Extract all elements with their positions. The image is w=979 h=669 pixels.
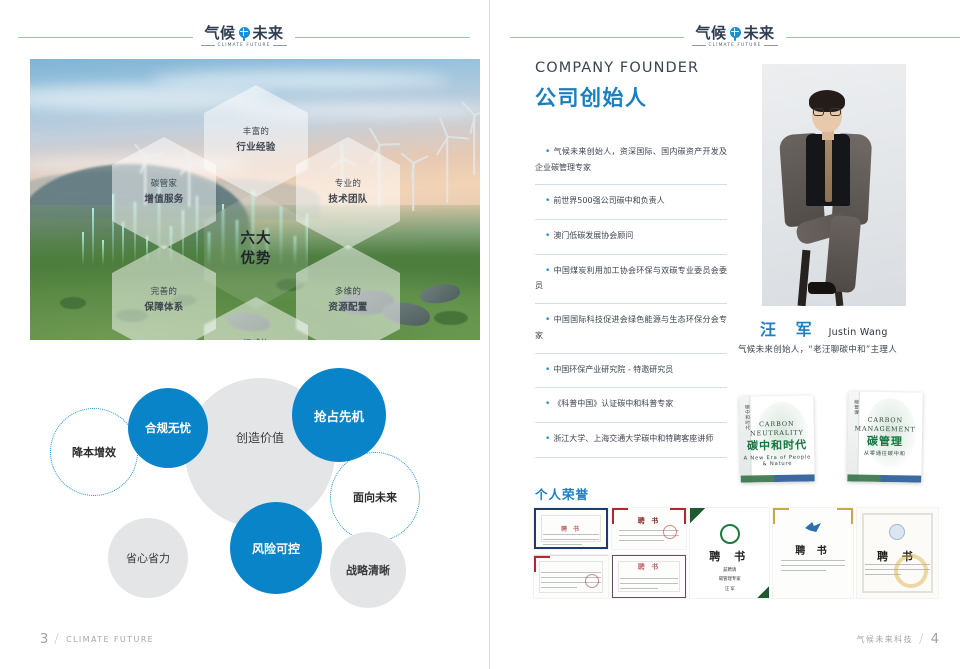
founder-name-en: Justin Wang: [829, 327, 888, 338]
brochure-spread: 气候 未来 CLIMATE FUTURE: [0, 0, 979, 669]
credential-text: 浙江大学、上海交通大学碳中和特聘客座讲师: [535, 431, 727, 448]
book-carbon-neutrality: 碳中和时代 CARBON NEUTRALITY 碳中和时代 A New Era …: [739, 395, 814, 482]
wind-turbine-7: [462, 115, 480, 175]
credential-text: 前世界500强公司碳中和负责人: [535, 193, 727, 210]
wind-turbine-5: [434, 137, 460, 203]
page-left: 气候 未来 CLIMATE FUTURE: [0, 0, 489, 669]
bubble-worry-free-label: 省心省力: [126, 550, 170, 566]
book-2-title-en: CARBON MANAGEMENT: [848, 415, 922, 434]
hex-5-line2: 保障体系: [144, 301, 183, 316]
credential-text: 中国环保产业研究院 - 特邀研究员: [535, 362, 727, 379]
brand-logo-en: CLIMATE FUTURE: [201, 43, 288, 48]
bubble-future-oriented-label: 面向未来: [353, 489, 397, 505]
footer-slash-right: /: [919, 632, 925, 647]
book-carbon-management: 碳管理 CARBON MANAGEMENT 碳管理 从零通往碳中和: [847, 391, 923, 482]
brand-logo-cn: 气候 未来: [204, 26, 283, 41]
founder-name: 汪 军 Justin Wang: [760, 316, 888, 340]
hex-6-line2: 增值服务: [144, 193, 183, 208]
footer-right: 气候未来科技 / 4: [857, 632, 939, 647]
certificate-5-body: 兹聘请碳管理专家汪 军: [690, 566, 769, 594]
certificates-gallery: 聘 书 聘 书 聘 书: [534, 508, 938, 598]
certificate-1-heading: 聘 书: [536, 524, 606, 533]
portrait-tie: [825, 136, 832, 202]
header-rule-left: [18, 37, 193, 38]
book-1-title-cn-text: 碳中和时代: [747, 438, 807, 452]
list-item: 气候未来创始人，资深国际、国内碳资产开发及企业碳管理专家: [535, 136, 727, 185]
page-title-cn: 公司创始人: [535, 82, 648, 112]
founder-subtitle: 气候未来创始人，“老汪聊碳中和”主理人: [738, 343, 897, 355]
certificate-7: 聘 书: [857, 508, 938, 598]
header-rule-right-2: [786, 37, 960, 38]
founder-credentials-list: 气候未来创始人，资深国际、国内碳资产开发及企业碳管理专家 前世界500强公司碳中…: [535, 136, 727, 458]
hex-4-line1: 权威的: [243, 338, 269, 340]
certificate-6-heading: 聘 书: [773, 542, 852, 557]
certificate-1: 聘 书: [534, 508, 608, 549]
logo-text-left: 气候: [204, 26, 235, 41]
list-item: 中国煤炭利用加工协会环保与双碳专业委员会委员: [535, 255, 727, 304]
founder-name-cn: 汪 军: [760, 316, 819, 340]
hex-1-line2: 行业经验: [236, 141, 275, 156]
founder-portrait-photo: [762, 64, 906, 306]
portrait-stool-leg-1: [798, 250, 811, 306]
hex-center-line2: 优势: [241, 250, 272, 270]
published-books: 碳中和时代 CARBON NEUTRALITY 碳中和时代 A New Era …: [736, 386, 936, 486]
certificate-3: 聘 书: [612, 508, 686, 549]
bubble-worry-free: 省心省力: [108, 518, 188, 598]
hero-image-six-advantages: 六大 优势 丰富的 行业经验 专业的 技术团队 多维的 资源配置 权威的 生态伙…: [30, 59, 480, 340]
header-logo-band-right: 气候 未来 CLIMATE FUTURE: [510, 26, 960, 48]
book-1-subtitle: A New Era of People & Nature: [740, 455, 814, 468]
header-rule-right: [295, 37, 470, 38]
certificate-2: [534, 555, 608, 598]
logo-en-text: CLIMATE FUTURE: [218, 43, 271, 48]
section-title-personal-honors: 个人荣誉: [535, 484, 589, 503]
page-title-en: COMPANY FOUNDER: [535, 60, 699, 76]
bubble-compliance-label: 合规无忧: [145, 420, 191, 436]
hex-center-line1: 六大: [241, 230, 272, 250]
bubble-clear-strategy-label: 战略清晰: [346, 562, 390, 578]
list-item: 浙江大学、上海交通大学碳中和特聘客座讲师: [535, 423, 727, 458]
list-item: 《科普中国》认证碳中和科普专家: [535, 388, 727, 423]
footer-label-right: 气候未来科技: [857, 634, 913, 645]
logo-text-right-2: 未来: [744, 26, 775, 41]
bush-5: [434, 311, 468, 325]
bubble-future-oriented: 面向未来: [330, 452, 420, 542]
bubble-compliance: 合规无忧: [128, 388, 208, 468]
certificate-6: 聘 书: [773, 508, 852, 598]
certificate-5: 聘 书 兹聘请碳管理专家汪 军: [690, 508, 769, 598]
hex-5-line1: 完善的: [151, 286, 177, 299]
credential-text: 气候未来创始人，资深国际、国内碳资产开发及企业碳管理专家: [535, 144, 727, 175]
lightbulb-globe-icon-2: [729, 27, 742, 41]
credential-text: 澳门低碳发展协会顾问: [535, 228, 727, 245]
book-2-title-cn: 碳管理 从零通往碳中和: [848, 435, 922, 458]
hex-2-line2: 技术团队: [328, 193, 367, 208]
bubble-risk-control: 风险可控: [230, 502, 322, 594]
book-2-base-band: [847, 474, 921, 482]
brand-logo: 气候 未来 CLIMATE FUTURE: [193, 26, 296, 48]
header-rule-left-2: [510, 37, 684, 38]
bubble-value-diagram: 创造价值 降本增效 合规无忧 抢占先机 面向未来 省心省力 风险可控 战略清晰: [30, 360, 480, 620]
gold-seal: [894, 554, 928, 588]
logo-en-text-2: CLIMATE FUTURE: [709, 43, 762, 48]
brand-logo-right: 气候 未来 CLIMATE FUTURE: [684, 26, 787, 48]
footer-label-left: CLIMATE FUTURE: [66, 635, 154, 644]
hex-3-line1: 多维的: [335, 286, 361, 299]
footer-left: 3 / CLIMATE FUTURE: [40, 632, 154, 647]
hex-6-line1: 碳管家: [151, 178, 177, 191]
footer-page-number-left: 3: [40, 632, 48, 647]
list-item: 中国国际科技促进会绿色能源与生态环保分会专家: [535, 304, 727, 353]
list-item: 前世界500强公司碳中和负责人: [535, 185, 727, 220]
book-2-subtitle: 从零通往碳中和: [848, 451, 922, 458]
bubble-create-value-label: 创造价值: [236, 429, 284, 446]
association-emblem-icon: [720, 524, 740, 544]
certificate-4-heading: 聘 书: [613, 562, 685, 572]
logo-text-left-2: 气候: [695, 26, 726, 41]
list-item: 中国环保产业研究院 - 特邀研究员: [535, 354, 727, 389]
bush-1: [60, 297, 86, 309]
bubble-seize-opportunity: 抢占先机: [292, 368, 386, 462]
certificate-column-1: 聘 书: [534, 508, 608, 598]
hex-1-line1: 丰富的: [243, 126, 269, 139]
list-item: 澳门低碳发展协会顾问: [535, 220, 727, 255]
cloud-2: [150, 71, 450, 89]
footer-page-number-right: 4: [931, 632, 939, 647]
logo-dash-left: [201, 45, 215, 46]
bird-emblem-icon: [805, 522, 821, 532]
book-2-spine-text: 碳管理: [849, 399, 858, 415]
brand-logo-cn-right: 气候 未来: [695, 26, 774, 41]
logo-text-right: 未来: [253, 26, 284, 41]
logo-dash-left-2: [692, 45, 706, 46]
logo-dash-right: [273, 45, 287, 46]
bubble-risk-control-label: 风险可控: [252, 540, 300, 557]
header-logo-band-left: 气候 未来 CLIMATE FUTURE: [18, 26, 470, 48]
certificate-5-heading: 聘 书: [690, 548, 769, 564]
bubble-clear-strategy: 战略清晰: [330, 532, 406, 608]
certificate-column-2: 聘 书 聘 书: [612, 508, 686, 598]
glasses-icon: [813, 108, 841, 116]
credential-text: 《科普中国》认证碳中和科普专家: [535, 396, 727, 413]
bubble-cost-reduction: 降本增效: [50, 408, 138, 496]
book-1-title-cn: 碳中和时代 A New Era of People & Nature: [740, 439, 814, 468]
hex-2-line1: 专业的: [335, 178, 361, 191]
credential-text: 中国国际科技促进会绿色能源与生态环保分会专家: [535, 312, 727, 343]
credential-text: 中国煤炭利用加工协会环保与双碳专业委员会委员: [535, 263, 727, 294]
certificate-4: 聘 书: [612, 555, 686, 598]
wind-turbine-4: [402, 163, 424, 211]
bubble-seize-opportunity-label: 抢占先机: [314, 406, 364, 425]
certificate-3-heading: 聘 书: [612, 516, 686, 526]
hex-3-line2: 资源配置: [328, 301, 367, 316]
logo-dash-right-2: [764, 45, 778, 46]
lightbulb-globe-icon: [238, 27, 251, 41]
book-2-title-cn-text: 碳管理: [867, 435, 903, 449]
brand-logo-en-right: CLIMATE FUTURE: [692, 43, 779, 48]
portrait-shoe: [808, 282, 836, 294]
footer-slash-left: /: [54, 632, 60, 647]
book-1-title-en: CARBON NEUTRALITY: [740, 419, 814, 438]
book-1-base-band: [741, 474, 815, 482]
bubble-cost-reduction-label: 降本增效: [72, 444, 116, 460]
institute-emblem-icon: [889, 524, 905, 540]
